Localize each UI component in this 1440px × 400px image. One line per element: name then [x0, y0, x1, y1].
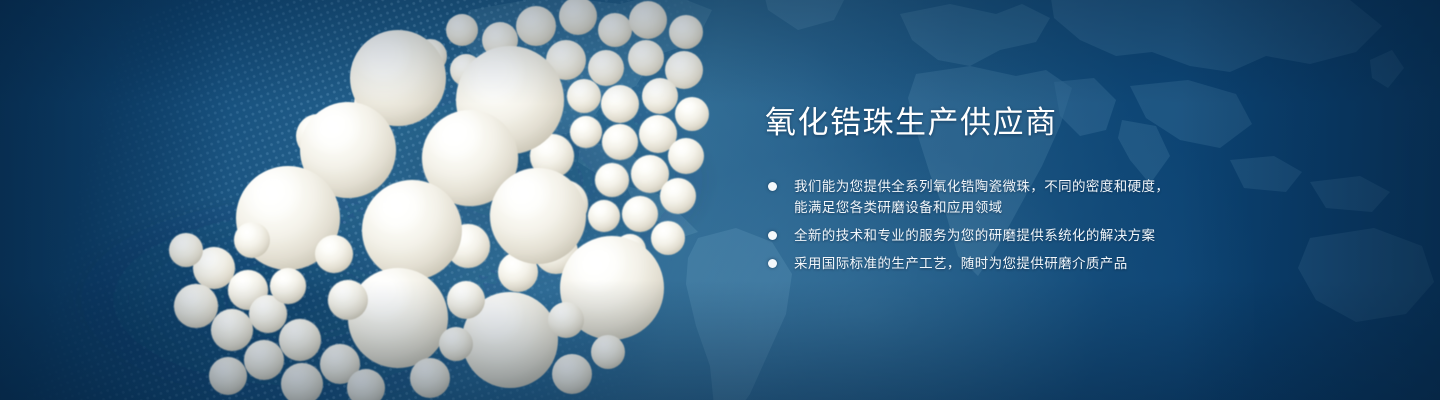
- page-title: 氧化锆珠生产供应商: [765, 104, 1365, 143]
- list-item-line: 采用国际标准的生产工艺，随时为您提供研磨介质产品: [794, 253, 1365, 274]
- hero-banner: 氧化锆珠生产供应商 我们能为您提供全系列氧化锆陶瓷微珠，不同的密度和硬度， 能满…: [0, 0, 1440, 400]
- bullet-dot-icon: [768, 231, 777, 240]
- bullet-dot-icon: [768, 182, 777, 191]
- list-item-line: 能满足您各类研磨设备和应用领域: [794, 197, 1365, 218]
- list-item-line: 我们能为您提供全系列氧化锆陶瓷微珠，不同的密度和硬度，: [794, 176, 1365, 197]
- banner-copy: 氧化锆珠生产供应商 我们能为您提供全系列氧化锆陶瓷微珠，不同的密度和硬度， 能满…: [765, 104, 1365, 274]
- feature-list: 我们能为您提供全系列氧化锆陶瓷微珠，不同的密度和硬度， 能满足您各类研磨设备和应…: [765, 176, 1365, 274]
- list-item-line: 全新的技术和专业的服务为您的研磨提供系统化的解决方案: [794, 225, 1365, 246]
- list-item: 我们能为您提供全系列氧化锆陶瓷微珠，不同的密度和硬度， 能满足您各类研磨设备和应…: [765, 176, 1365, 218]
- bullet-dot-icon: [768, 259, 777, 268]
- list-item: 采用国际标准的生产工艺，随时为您提供研磨介质产品: [765, 253, 1365, 274]
- list-item: 全新的技术和专业的服务为您的研磨提供系统化的解决方案: [765, 225, 1365, 246]
